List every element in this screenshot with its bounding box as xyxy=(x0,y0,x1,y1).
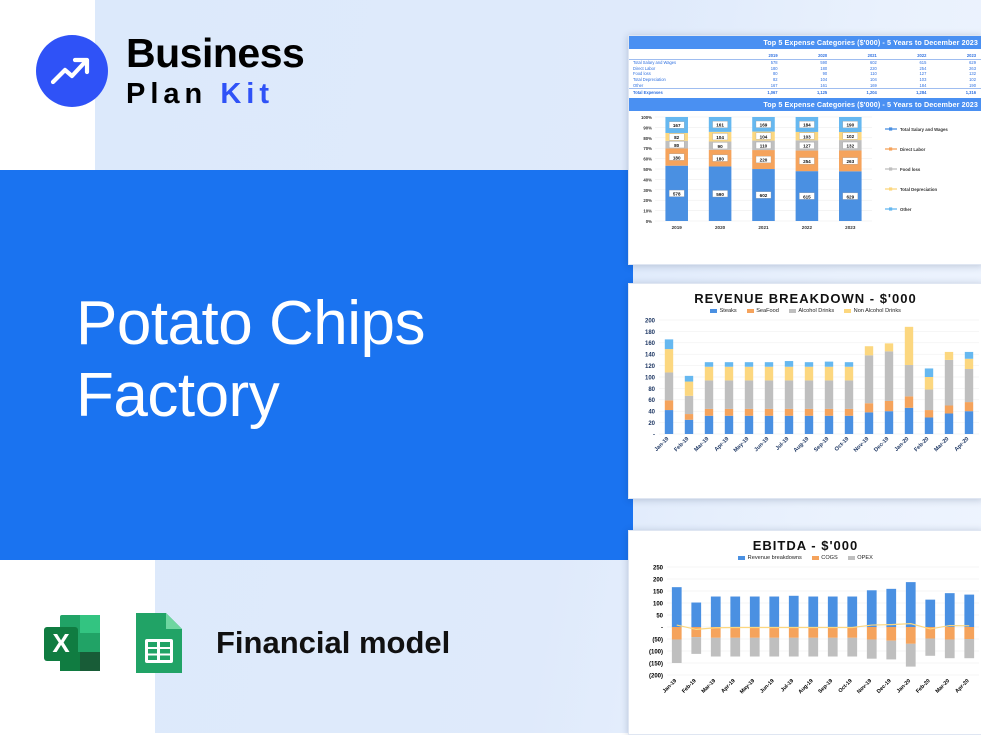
table-cell: 1,204 xyxy=(833,88,883,95)
legend-label: Steaks xyxy=(720,308,737,314)
legend-label: SeaFood xyxy=(756,308,779,314)
svg-text:Other: Other xyxy=(900,207,912,212)
legend-label: COGS xyxy=(821,555,837,561)
svg-text:May-19: May-19 xyxy=(739,678,756,695)
svg-text:Apr-19: Apr-19 xyxy=(720,678,736,694)
svg-text:May-19: May-19 xyxy=(733,436,751,454)
svg-text:40%: 40% xyxy=(643,178,652,183)
brand-name-line2: Plan Kit xyxy=(126,80,304,109)
brand-plan-word: Plan xyxy=(126,78,207,110)
svg-text:Nov-19: Nov-19 xyxy=(856,678,873,695)
svg-text:Sep-19: Sep-19 xyxy=(817,678,834,695)
svg-text:50%: 50% xyxy=(643,167,652,172)
svg-text:Dec-19: Dec-19 xyxy=(873,436,890,453)
svg-text:Oct-19: Oct-19 xyxy=(838,678,854,694)
svg-text:(100): (100) xyxy=(649,649,663,655)
svg-text:0%: 0% xyxy=(646,219,652,224)
svg-text:Feb-20: Feb-20 xyxy=(913,436,930,453)
svg-text:180: 180 xyxy=(673,156,681,161)
footer-label: Financial model xyxy=(216,625,450,661)
svg-text:Jan-19: Jan-19 xyxy=(654,436,671,453)
ebitda-legend: Revenue breakdownsCOGSOPEX xyxy=(629,555,981,563)
svg-text:(50): (50) xyxy=(652,637,663,643)
revenue-legend: SteaksSeaFoodAlcohol DrinksNon Alcohol D… xyxy=(629,308,981,316)
svg-text:40: 40 xyxy=(648,410,655,416)
svg-text:161: 161 xyxy=(716,123,724,128)
legend-swatch xyxy=(789,309,796,313)
svg-text:220: 220 xyxy=(760,158,768,163)
expenses-stacked-chart: 100%90%80%70%60%50%40%30%20%10%0%5781808… xyxy=(629,111,981,246)
svg-text:100: 100 xyxy=(645,375,656,381)
svg-text:103: 103 xyxy=(803,135,811,140)
svg-text:Sep-19: Sep-19 xyxy=(813,436,830,453)
svg-text:Jan-20: Jan-20 xyxy=(896,678,912,694)
svg-text:(150): (150) xyxy=(649,661,663,667)
legend-item: Revenue breakdowns xyxy=(738,555,802,561)
svg-text:Total Depreciation: Total Depreciation xyxy=(900,187,938,192)
svg-text:Oct-19: Oct-19 xyxy=(834,436,851,453)
svg-text:Mar-20: Mar-20 xyxy=(933,436,950,453)
table-cell: 1,316 xyxy=(932,88,981,95)
legend-label: Non Alcohol Drinks xyxy=(854,308,901,314)
legend-item: OPEX xyxy=(848,555,873,561)
svg-text:150: 150 xyxy=(653,589,664,595)
page-title: Potato Chips Factory xyxy=(76,288,425,432)
svg-text:Mar-19: Mar-19 xyxy=(693,436,710,453)
table-cell: 1,284 xyxy=(883,88,933,95)
legend-item: Alcohol Drinks xyxy=(789,308,834,314)
svg-text:110: 110 xyxy=(760,144,768,149)
legend-item: Steaks xyxy=(710,308,737,314)
table-cell: 1,067 xyxy=(734,88,784,95)
svg-text:Mar-20: Mar-20 xyxy=(935,678,952,695)
legend-swatch xyxy=(844,309,851,313)
svg-text:140: 140 xyxy=(645,353,656,359)
svg-text:602: 602 xyxy=(760,193,768,198)
svg-text:Nov-19: Nov-19 xyxy=(853,436,870,453)
brand-kit-word: Kit xyxy=(220,78,274,110)
svg-text:Apr-19: Apr-19 xyxy=(714,436,731,453)
svg-text:200: 200 xyxy=(653,577,664,583)
growth-arrow-icon xyxy=(36,35,108,107)
svg-text:629: 629 xyxy=(846,195,854,200)
svg-text:Jan-19: Jan-19 xyxy=(662,678,678,694)
svg-text:2020: 2020 xyxy=(715,225,726,230)
svg-text:2022: 2022 xyxy=(802,225,813,230)
table-row: Total Expenses1,0671,1251,2041,2841,316 xyxy=(629,88,981,95)
legend-label: OPEX xyxy=(857,555,873,561)
panel-expenses[interactable]: Top 5 Expense Categories ($'000) - 5 Yea… xyxy=(628,35,981,265)
legend-swatch xyxy=(848,556,855,560)
svg-text:184: 184 xyxy=(803,123,811,128)
svg-text:Jan-20: Jan-20 xyxy=(894,436,911,453)
svg-text:70%: 70% xyxy=(643,146,652,151)
svg-text:80: 80 xyxy=(648,387,655,393)
svg-text:Mar-19: Mar-19 xyxy=(701,678,718,695)
svg-text:100%: 100% xyxy=(641,115,652,120)
svg-text:2019: 2019 xyxy=(672,225,683,230)
svg-text:590: 590 xyxy=(716,192,724,197)
svg-text:-: - xyxy=(661,625,663,631)
svg-text:190: 190 xyxy=(846,123,854,128)
svg-text:(200): (200) xyxy=(649,673,663,679)
microsoft-excel-icon: X xyxy=(36,607,108,679)
svg-text:127: 127 xyxy=(803,144,811,149)
expenses-table-title: Top 5 Expense Categories ($'000) - 5 Yea… xyxy=(629,36,981,49)
svg-text:120: 120 xyxy=(645,364,656,370)
svg-text:Aug-19: Aug-19 xyxy=(797,678,814,695)
svg-text:180: 180 xyxy=(645,330,656,336)
svg-text:90%: 90% xyxy=(643,126,652,131)
page-title-line2: Factory xyxy=(76,360,425,432)
svg-text:Apr-20: Apr-20 xyxy=(954,436,971,453)
svg-text:Jun-19: Jun-19 xyxy=(753,436,770,453)
svg-text:2021: 2021 xyxy=(758,225,769,230)
brand-name-line1: Business xyxy=(126,33,304,74)
expenses-chart-title: Top 5 Expense Categories ($'000) - 5 Yea… xyxy=(629,98,981,111)
legend-swatch xyxy=(812,556,819,560)
table-cell: 1,125 xyxy=(784,88,834,95)
svg-text:Direct Labor: Direct Labor xyxy=(900,147,926,152)
svg-text:Food loss: Food loss xyxy=(900,167,921,172)
svg-text:82: 82 xyxy=(674,135,680,140)
legend-item: Non Alcohol Drinks xyxy=(844,308,901,314)
svg-text:Jul-19: Jul-19 xyxy=(780,678,795,693)
legend-swatch xyxy=(710,309,717,313)
svg-text:180: 180 xyxy=(716,157,724,162)
svg-text:200: 200 xyxy=(645,318,656,324)
svg-text:132: 132 xyxy=(846,144,854,149)
legend-swatch xyxy=(747,309,754,313)
legend-swatch xyxy=(738,556,745,560)
svg-text:Total Salary and Wages: Total Salary and Wages xyxy=(900,127,948,132)
expenses-table: 20192020202120222023 Total Salary and Wa… xyxy=(629,53,981,95)
svg-text:90: 90 xyxy=(718,144,724,149)
svg-text:X: X xyxy=(52,628,70,658)
ebitda-chart: 25020015010050-(50)(100)(150)(200)Jan-19… xyxy=(629,563,981,723)
revenue-chart-title: REVENUE BREAKDOWN - $'000 xyxy=(629,284,981,308)
svg-text:578: 578 xyxy=(673,192,681,197)
legend-item: COGS xyxy=(812,555,838,561)
svg-text:250: 250 xyxy=(653,565,664,571)
svg-text:615: 615 xyxy=(803,195,811,200)
page-title-line1: Potato Chips xyxy=(76,288,425,360)
svg-text:Jul-19: Jul-19 xyxy=(775,436,791,452)
svg-text:60%: 60% xyxy=(643,157,652,162)
svg-text:167: 167 xyxy=(673,123,681,128)
svg-text:Feb-19: Feb-19 xyxy=(673,436,690,453)
svg-text:2023: 2023 xyxy=(845,225,856,230)
svg-text:263: 263 xyxy=(846,159,854,164)
legend-item: SeaFood xyxy=(747,308,779,314)
svg-text:Feb-19: Feb-19 xyxy=(681,678,698,695)
brand-logo: Business Plan Kit xyxy=(36,33,304,109)
svg-text:20: 20 xyxy=(648,421,655,427)
footer-row: X Financial model xyxy=(36,607,450,679)
svg-text:50: 50 xyxy=(656,613,663,619)
svg-text:-: - xyxy=(653,432,655,438)
revenue-chart: -20406080100120140160180200Jan-19Feb-19M… xyxy=(629,316,981,488)
table-row-label: Total Expenses xyxy=(629,88,734,95)
svg-text:100: 100 xyxy=(653,601,664,607)
svg-text:30%: 30% xyxy=(643,188,652,193)
svg-text:102: 102 xyxy=(846,135,854,140)
google-sheets-icon xyxy=(128,607,188,679)
svg-text:20%: 20% xyxy=(643,198,652,203)
ebitda-chart-title: EBITDA - $'000 xyxy=(629,531,981,555)
svg-text:104: 104 xyxy=(760,135,768,140)
svg-text:160: 160 xyxy=(645,341,656,347)
panel-revenue-breakdown[interactable]: REVENUE BREAKDOWN - $'000 SteaksSeaFoodA… xyxy=(628,283,981,499)
legend-label: Alcohol Drinks xyxy=(798,308,834,314)
svg-text:104: 104 xyxy=(716,135,724,140)
svg-text:254: 254 xyxy=(803,159,811,164)
legend-label: Revenue breakdowns xyxy=(748,555,802,561)
svg-text:Apr-20: Apr-20 xyxy=(954,678,970,694)
svg-text:Jun-19: Jun-19 xyxy=(759,678,776,695)
panel-ebitda[interactable]: EBITDA - $'000 Revenue breakdownsCOGSOPE… xyxy=(628,530,981,735)
svg-text:169: 169 xyxy=(760,123,768,128)
svg-text:Feb-20: Feb-20 xyxy=(915,678,932,695)
svg-text:80: 80 xyxy=(674,143,680,148)
svg-text:Aug-19: Aug-19 xyxy=(793,436,811,454)
svg-text:80%: 80% xyxy=(643,136,652,141)
svg-text:60: 60 xyxy=(648,398,655,404)
svg-text:Dec-19: Dec-19 xyxy=(876,678,893,695)
svg-text:10%: 10% xyxy=(643,209,652,214)
